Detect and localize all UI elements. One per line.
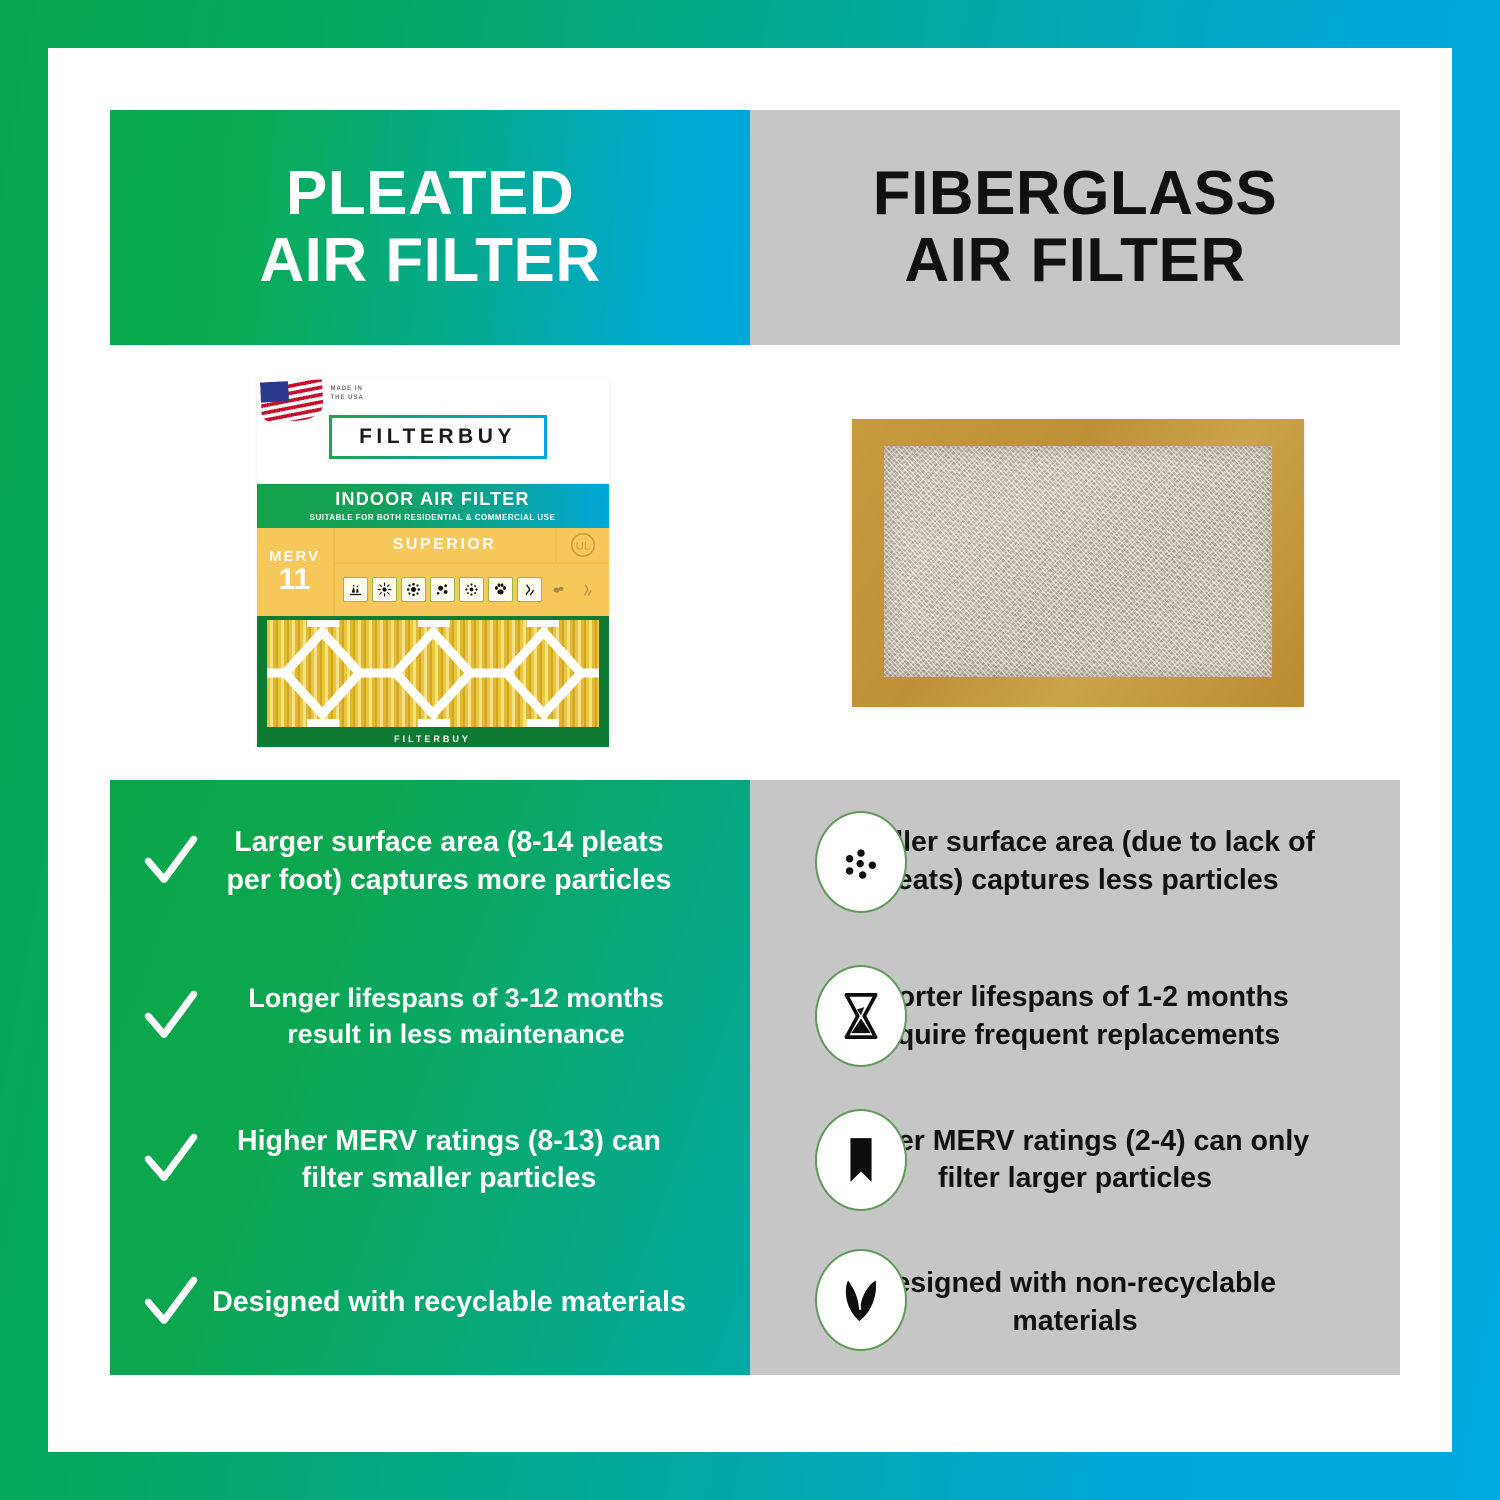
header-fiberglass-line1: FIBERGLASS bbox=[873, 161, 1278, 228]
ul-certification-icon: UL bbox=[555, 528, 609, 562]
pet-dander-icon bbox=[488, 577, 513, 602]
usa-flag-icon bbox=[259, 379, 323, 422]
product-band: INDOOR AIR FILTER SUITABLE FOR BOTH RESI… bbox=[257, 484, 609, 528]
header-fiberglass-line2: AIR FILTER bbox=[873, 228, 1278, 295]
hourglass-icon bbox=[815, 965, 907, 1067]
band-subtitle: SUITABLE FOR BOTH RESIDENTIAL & COMMERCI… bbox=[310, 513, 556, 522]
row-1-pleated-cell: Larger surface area (8-14 pleats per foo… bbox=[110, 780, 750, 943]
row-2-pleated-cell: Longer lifespans of 3-12 months result i… bbox=[110, 943, 750, 1090]
media-footer-brand: FILTERBUY bbox=[257, 734, 609, 744]
header-pleated-line1: PLEATED bbox=[259, 161, 600, 228]
product-box-top: MADE IN THE USA FILTERBUY bbox=[257, 379, 609, 484]
dust-icon bbox=[343, 577, 368, 602]
band-title: INDOOR AIR FILTER bbox=[335, 489, 529, 510]
merv-value: 11 bbox=[279, 565, 311, 595]
header-fiberglass-title: FIBERGLASS AIR FILTER bbox=[873, 161, 1278, 295]
row-2-pleated-text: Longer lifespans of 3-12 months result i… bbox=[210, 981, 750, 1051]
outer-gradient-border: PLEATED AIR FILTER FIBERGLASS AIR FILTER bbox=[0, 0, 1500, 1500]
bacteria-icon bbox=[430, 577, 455, 602]
filterbuy-logo: FILTERBUY bbox=[329, 415, 547, 459]
fiberglass-product-cell bbox=[755, 345, 1400, 780]
merv-row: MERV 11 SUPERIOR UL bbox=[257, 528, 609, 616]
capture-icon-strip bbox=[335, 564, 609, 616]
header-pleated-title: PLEATED AIR FILTER bbox=[259, 161, 600, 295]
check-icon bbox=[132, 1275, 210, 1331]
particles-dots-icon bbox=[815, 811, 907, 913]
header-fiberglass-panel: FIBERGLASS AIR FILTER bbox=[750, 110, 1400, 345]
support-wire-grid bbox=[267, 620, 599, 727]
comparison-rows: Larger surface area (8-14 pleats per foo… bbox=[110, 780, 1400, 1375]
pleated-filter-media: FILTERBUY bbox=[257, 616, 609, 747]
smoke-icon bbox=[517, 577, 542, 602]
smog-icon bbox=[575, 577, 600, 602]
eco-leaf-icon bbox=[815, 1249, 907, 1351]
header-bar: PLEATED AIR FILTER FIBERGLASS AIR FILTER bbox=[110, 110, 1400, 345]
product-image-row: MADE IN THE USA FILTERBUY INDOOR AIR FIL… bbox=[110, 345, 1400, 780]
mold-spore-icon bbox=[401, 577, 426, 602]
merv-badge: MERV 11 bbox=[257, 528, 335, 616]
fiberglass-filter-product-image bbox=[852, 419, 1304, 707]
comparison-row: Longer lifespans of 3-12 months result i… bbox=[110, 943, 1400, 1090]
comparison-row: Larger surface area (8-14 pleats per foo… bbox=[110, 780, 1400, 943]
page-canvas: PLEATED AIR FILTER FIBERGLASS AIR FILTER bbox=[48, 48, 1452, 1452]
row-4-pleated-text: Designed with recyclable materials bbox=[210, 1284, 750, 1321]
check-icon bbox=[132, 834, 210, 890]
made-in-usa-label: MADE IN THE USA bbox=[331, 385, 364, 403]
check-icon bbox=[132, 1132, 210, 1188]
comparison-section: Larger surface area (8-14 pleats per foo… bbox=[110, 780, 1400, 1375]
grade-row: SUPERIOR UL bbox=[335, 528, 609, 564]
pleated-product-cell: MADE IN THE USA FILTERBUY INDOOR AIR FIL… bbox=[110, 345, 755, 780]
header-pleated-panel: PLEATED AIR FILTER bbox=[110, 110, 750, 345]
grade-label: SUPERIOR bbox=[335, 536, 555, 554]
row-4-pleated-cell: Designed with recyclable materials bbox=[110, 1230, 750, 1375]
fiberglass-mesh bbox=[884, 446, 1272, 677]
svg-text:UL: UL bbox=[575, 540, 589, 552]
filterbuy-wordmark: FILTERBUY bbox=[359, 425, 516, 449]
check-icon bbox=[132, 989, 210, 1045]
virus-icon bbox=[459, 577, 484, 602]
pollen-icon bbox=[372, 577, 397, 602]
merv-details: SUPERIOR UL bbox=[335, 528, 609, 616]
comparison-row: Designed with recyclable materials Desig… bbox=[110, 1230, 1400, 1375]
row-3-pleated-cell: Higher MERV ratings (8-13) can filter sm… bbox=[110, 1090, 750, 1230]
odor-icon bbox=[546, 577, 571, 602]
row-3-pleated-text: Higher MERV ratings (8-13) can filter sm… bbox=[210, 1123, 750, 1197]
pleated-filter-product-image: MADE IN THE USA FILTERBUY INDOOR AIR FIL… bbox=[257, 379, 609, 747]
comparison-row: Higher MERV ratings (8-13) can filter sm… bbox=[110, 1090, 1400, 1230]
row-1-pleated-text: Larger surface area (8-14 pleats per foo… bbox=[210, 824, 750, 898]
header-pleated-line2: AIR FILTER bbox=[259, 228, 600, 295]
bookmark-ribbon-icon bbox=[815, 1109, 907, 1211]
